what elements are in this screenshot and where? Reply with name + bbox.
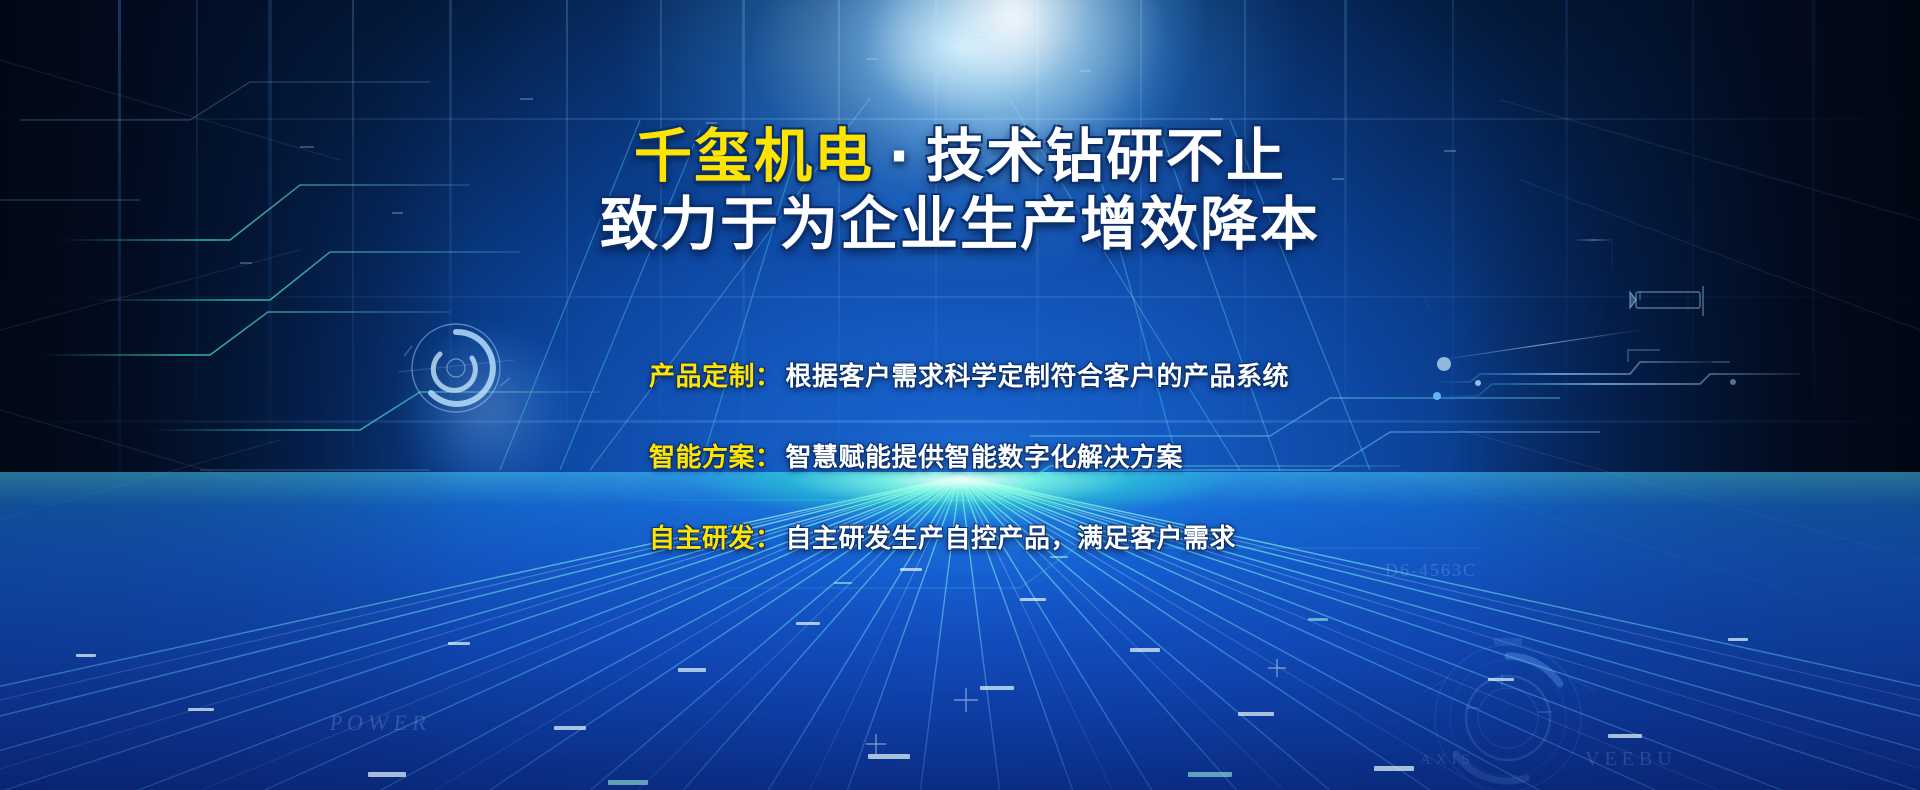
feature-item-independent-rd: 自主研发：自主研发生产自控产品，满足客户需求 [649, 524, 1649, 554]
headline-separator: · [874, 122, 926, 190]
feature-text: 自主研发生产自控产品，满足客户需求 [786, 524, 1237, 554]
feature-text: 根据客户需求科学定制符合客户的产品系统 [786, 362, 1290, 392]
feature-label: 产品定制 [649, 362, 755, 392]
headline-tagline: 技术钻研不止 [926, 122, 1286, 190]
feature-text: 智慧赋能提供智能数字化解决方案 [786, 443, 1184, 473]
headline-subtitle: 致力于为企业生产增效降本 [600, 190, 1320, 258]
brand-name: 千玺机电 [634, 122, 874, 190]
feature-label: 自主研发 [649, 524, 755, 554]
feature-label: 智能方案 [649, 443, 755, 473]
headline-line-1: 千玺机电·技术钻研不止 [0, 124, 1920, 188]
headline-line-2: 致力于为企业生产增效降本 [0, 192, 1920, 256]
feature-item-smart-solution: 智能方案：智慧赋能提供智能数字化解决方案 [649, 443, 1649, 473]
feature-colon: ： [755, 443, 782, 473]
feature-colon: ： [755, 362, 782, 392]
banner-content: 千玺机电·技术钻研不止 致力于为企业生产增效降本 产品定制：根据客户需求科学定制… [0, 0, 1920, 790]
feature-item-product-customization: 产品定制：根据客户需求科学定制符合客户的产品系统 [649, 362, 1649, 392]
feature-list: 产品定制：根据客户需求科学定制符合客户的产品系统 智能方案：智慧赋能提供智能数字… [649, 362, 1649, 554]
hero-banner: POWER D6-4563C VEEBU AXIS 千玺机电·技术钻研不止 致力… [0, 0, 1920, 790]
feature-colon: ： [755, 524, 782, 554]
